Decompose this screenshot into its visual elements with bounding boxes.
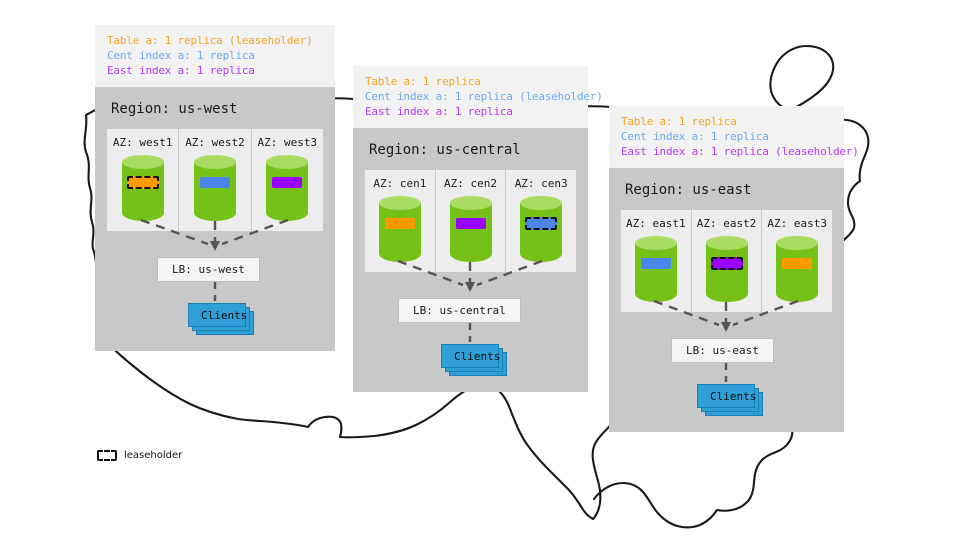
- replica-bar-cent-index: [200, 177, 230, 188]
- az-cell-west2[interactable]: AZ: west2: [178, 129, 250, 231]
- clients-stack-us-central[interactable]: Clients: [441, 344, 503, 372]
- replica-summary-us-central: Table a: 1 replica Cent index a: 1 repli…: [353, 66, 588, 128]
- az-cell-east1[interactable]: AZ: east1: [621, 210, 691, 312]
- az-label-west1: AZ: west1: [113, 136, 173, 149]
- cylinder-top: [706, 236, 748, 250]
- node-cylinder-west2[interactable]: [194, 155, 236, 221]
- dashed-rect-swatch-icon: [97, 450, 117, 461]
- node-cylinder-west3[interactable]: [266, 155, 308, 221]
- az-label-cen1: AZ: cen1: [373, 177, 426, 190]
- replica-bar-table: [782, 258, 812, 269]
- cylinder-body: [122, 162, 164, 221]
- az-label-east2: AZ: east2: [697, 217, 757, 230]
- replica-line-table: Table a: 1 replica: [621, 114, 832, 129]
- replica-bar-table: [385, 218, 415, 229]
- cylinder-top: [122, 155, 164, 169]
- replica-bar-cent-index-leaseholder: [525, 217, 557, 230]
- cylinder-body: [635, 243, 677, 302]
- clients-stack-us-west[interactable]: Clients: [188, 303, 250, 331]
- cylinder-body: [194, 162, 236, 221]
- node-cylinder-east1[interactable]: [635, 236, 677, 302]
- load-balancer-us-west[interactable]: LB: us-west: [157, 257, 260, 282]
- cylinder-body: [520, 203, 562, 262]
- replica-line-cent-index: Cent index a: 1 replica (leaseholder): [365, 89, 576, 104]
- cylinder-body: [266, 162, 308, 221]
- load-balancer-us-east[interactable]: LB: us-east: [671, 338, 774, 363]
- replica-line-east-index: East index a: 1 replica: [365, 104, 576, 119]
- replica-bar-cent-index: [641, 258, 671, 269]
- cylinder-body: [379, 203, 421, 262]
- az-strip-us-east: AZ: east1 AZ: east2 AZ: east3: [621, 210, 832, 312]
- replica-line-east-index: East index a: 1 replica (leaseholder): [621, 144, 832, 159]
- node-cylinder-east2[interactable]: [706, 236, 748, 302]
- az-label-cen2: AZ: cen2: [444, 177, 497, 190]
- replica-line-east-index: East index a: 1 replica: [107, 63, 323, 78]
- legend-label: leaseholder: [124, 450, 182, 461]
- clients-label[interactable]: Clients: [188, 303, 246, 327]
- replica-bar-east-index: [272, 177, 302, 188]
- node-cylinder-west1[interactable]: [122, 155, 164, 221]
- node-cylinder-cen1[interactable]: [379, 196, 421, 262]
- cylinder-top: [520, 196, 562, 210]
- az-label-east3: AZ: east3: [767, 217, 827, 230]
- node-cylinder-cen2[interactable]: [450, 196, 492, 262]
- replica-summary-us-east: Table a: 1 replica Cent index a: 1 repli…: [609, 106, 844, 168]
- replica-line-cent-index: Cent index a: 1 replica: [107, 48, 323, 63]
- cylinder-body: [776, 243, 818, 302]
- cylinder-top: [194, 155, 236, 169]
- replica-bar-east-index-leaseholder: [711, 257, 743, 270]
- az-label-west2: AZ: west2: [185, 136, 245, 149]
- az-cell-west1[interactable]: AZ: west1: [107, 129, 178, 231]
- cylinder-top: [635, 236, 677, 250]
- replica-bar-table-leaseholder: [127, 176, 159, 189]
- clients-stack-us-east[interactable]: Clients: [697, 384, 759, 412]
- region-title-us-west: Region: us-west: [107, 97, 323, 129]
- cylinder-top: [776, 236, 818, 250]
- az-strip-us-central: AZ: cen1 AZ: cen2 AZ: cen3: [365, 170, 576, 272]
- load-balancer-us-central[interactable]: LB: us-central: [398, 298, 521, 323]
- az-label-west3: AZ: west3: [258, 136, 318, 149]
- replica-bar-east-index: [456, 218, 486, 229]
- az-cell-west3[interactable]: AZ: west3: [251, 129, 323, 231]
- az-cell-cen1[interactable]: AZ: cen1: [365, 170, 435, 272]
- region-panel-us-east: Table a: 1 replica Cent index a: 1 repli…: [609, 106, 844, 432]
- az-strip-us-west: AZ: west1 AZ: west2 AZ: west3: [107, 129, 323, 231]
- region-panel-us-west: Table a: 1 replica (leaseholder) Cent in…: [95, 25, 335, 351]
- region-title-us-east: Region: us-east: [621, 178, 832, 210]
- az-label-east1: AZ: east1: [626, 217, 686, 230]
- az-cell-east2[interactable]: AZ: east2: [691, 210, 762, 312]
- region-title-us-central: Region: us-central: [365, 138, 576, 170]
- az-cell-east3[interactable]: AZ: east3: [761, 210, 832, 312]
- cylinder-top: [266, 155, 308, 169]
- az-label-cen3: AZ: cen3: [515, 177, 568, 190]
- replica-line-cent-index: Cent index a: 1 replica: [621, 129, 832, 144]
- replica-summary-us-west: Table a: 1 replica (leaseholder) Cent in…: [95, 25, 335, 87]
- region-panel-us-central: Table a: 1 replica Cent index a: 1 repli…: [353, 66, 588, 392]
- node-cylinder-cen3[interactable]: [520, 196, 562, 262]
- cylinder-body: [450, 203, 492, 262]
- clients-label[interactable]: Clients: [441, 344, 499, 368]
- az-cell-cen3[interactable]: AZ: cen3: [505, 170, 576, 272]
- replica-line-table: Table a: 1 replica (leaseholder): [107, 33, 323, 48]
- cylinder-top: [450, 196, 492, 210]
- node-cylinder-east3[interactable]: [776, 236, 818, 302]
- replica-line-table: Table a: 1 replica: [365, 74, 576, 89]
- clients-label[interactable]: Clients: [697, 384, 755, 408]
- az-cell-cen2[interactable]: AZ: cen2: [435, 170, 506, 272]
- legend-leaseholder: leaseholder: [97, 450, 182, 461]
- cylinder-top: [379, 196, 421, 210]
- cylinder-body: [706, 243, 748, 302]
